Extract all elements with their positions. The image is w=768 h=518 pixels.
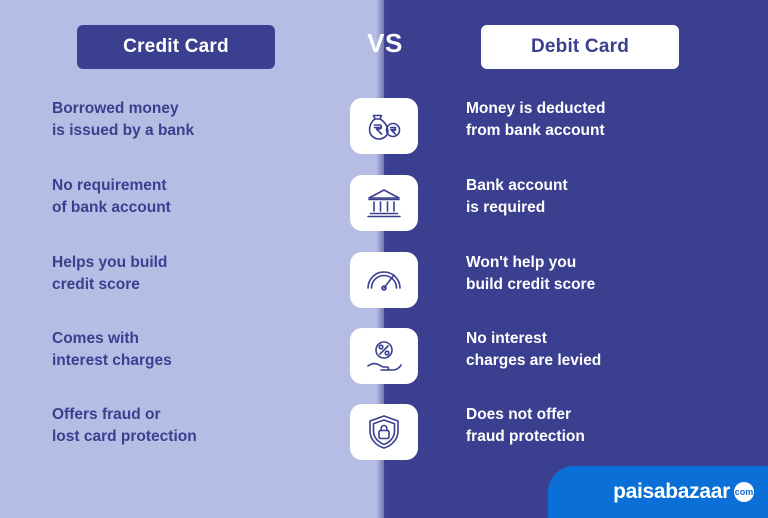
credit-card-point: Offers fraud orlost card protection [52, 404, 302, 448]
infographic-canvas: Credit Card VS Debit Card Borrowed money… [0, 0, 768, 518]
credit-card-point: Borrowed moneyis issued by a bank [52, 98, 302, 142]
debit-card-point: Does not offerfraud protection [466, 404, 726, 448]
row-icon-tile [350, 252, 418, 308]
vs-label: VS [355, 28, 415, 59]
comparison-row: Comes withinterest charges No interestch… [0, 328, 768, 404]
shield-lock-icon [367, 414, 401, 450]
row-icon-tile [350, 328, 418, 384]
logo-text: paisabazaar [613, 480, 730, 504]
debit-card-point: Won't help youbuild credit score [466, 252, 726, 296]
logo-badge: com [734, 482, 754, 502]
comparison-row: Helps you buildcredit score Won't help y… [0, 252, 768, 328]
debit-card-point: No interestcharges are levied [466, 328, 726, 372]
row-icon-tile [350, 98, 418, 154]
bank-building-icon [365, 186, 403, 220]
credit-card-header: Credit Card [77, 25, 275, 69]
hand-percent-icon [364, 339, 404, 373]
debit-card-point: Money is deductedfrom bank account [466, 98, 726, 142]
credit-card-point: Helps you buildcredit score [52, 252, 302, 296]
money-bag-rupee-icon [364, 108, 404, 144]
comparison-row: No requirementof bank account Bank accou… [0, 175, 768, 251]
debit-card-header: Debit Card [481, 25, 679, 69]
speedometer-gauge-icon [364, 264, 404, 296]
row-icon-tile [350, 404, 418, 460]
paisabazaar-logo: paisabazaarcom [548, 466, 768, 518]
credit-card-point: Comes withinterest charges [52, 328, 302, 372]
comparison-row: Borrowed moneyis issued by a bank Money … [0, 98, 768, 174]
credit-card-point: No requirementof bank account [52, 175, 302, 219]
debit-card-point: Bank accountis required [466, 175, 726, 219]
row-icon-tile [350, 175, 418, 231]
